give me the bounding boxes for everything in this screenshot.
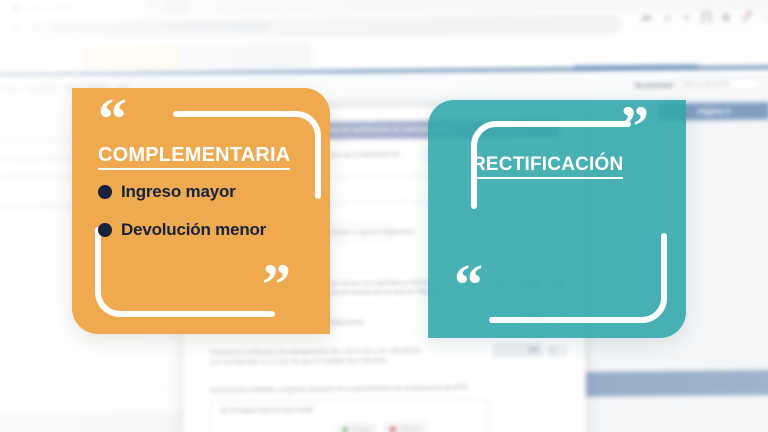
header-band-left (84, 45, 179, 71)
window-controls: − □ × (731, 0, 768, 1)
favorites-star-icon[interactable]: ☆ (663, 14, 671, 23)
tab-title: Agencia Tributaria (24, 5, 74, 12)
tab-actions-area (166, 0, 189, 14)
header-band-left-2 (179, 43, 312, 69)
forward-icon[interactable] (11, 22, 20, 31)
list-item: Ingreso mayor (98, 182, 266, 202)
bracket-bottom-right (486, 236, 672, 328)
browser-tab[interactable]: Agencia Tributaria × (7, 0, 144, 17)
read-aloud-icon[interactable]: Aᵃ (642, 14, 652, 23)
bullet-label: Ingreso mayor (121, 182, 236, 202)
accept-button[interactable]: Aceptar (337, 424, 376, 432)
modal-row-toggle[interactable] (547, 345, 567, 357)
window-minimize-icon[interactable]: − (731, 0, 736, 1)
card-title-rectificacion: RECTIFICACIÓN (472, 154, 623, 179)
list-item: Devolución menor (98, 220, 266, 240)
accept-button-label: Aceptar (351, 426, 371, 432)
cancel-icon (390, 426, 396, 432)
cancel-button-label: Cancelar (399, 426, 422, 432)
browser-nav-buttons (0, 22, 41, 32)
modal-text-line: Resultado a ingresar declaración (323, 229, 414, 239)
page-tab-label: Página 3 (698, 107, 730, 117)
quote-open-icon: “ (98, 90, 127, 148)
screenshot-root: Agencia Tributaria × + − □ × (0, 0, 768, 432)
modal-row-text: que corresponden en el caso de que el re… (210, 357, 387, 368)
modal-button-row: Aceptar Cancelar (337, 423, 427, 432)
modalidad-select[interactable]: DECLARANTE ▾ (678, 77, 768, 90)
modal-textarea-placeholder: No consignar nada en esta casilla (220, 407, 313, 417)
browser-toolbar-icons: Aᵃ ☆ ✧ ⎡⎤ ⧉ ☺ ⋯ (642, 13, 768, 24)
tab-favicon (13, 5, 20, 12)
cancel-button[interactable]: Cancelar (384, 423, 427, 432)
breadcrumb-item[interactable] (0, 85, 18, 91)
bullet-label: Devolución menor (121, 220, 266, 240)
profile-notification-dot (748, 12, 751, 15)
card-title-complementaria: COMPLEMENTARIA (98, 144, 290, 170)
profile-icon[interactable]: ☺ (741, 13, 751, 22)
new-tab-icon[interactable]: + (150, 1, 155, 10)
bullet-dot-icon (98, 185, 112, 199)
quote-open-icon: ” (620, 98, 649, 156)
card-complementaria: “ ” COMPLEMENTARIA Ingreso mayor Devoluc… (72, 88, 330, 334)
chevron-down-icon: ▾ (761, 80, 764, 87)
modal-row-field[interactable]: 109 (493, 344, 542, 356)
modalidad-control: Modalidad DECLARANTE ▾ (635, 77, 768, 91)
quote-close-icon: “ (454, 256, 483, 314)
split-screen-icon[interactable]: ⧉ (723, 13, 730, 22)
window-maximize-icon[interactable]: □ (749, 0, 754, 1)
card-rectificacion: ” “ RECTIFICACIÓN (428, 100, 686, 338)
tab-close-icon[interactable]: × (134, 4, 138, 10)
modalidad-label: Modalidad (635, 80, 673, 90)
collections-icon[interactable]: ✧ (683, 14, 691, 23)
card-bullet-list: Ingreso mayor Devolución menor (98, 182, 266, 258)
browser-essentials-icon[interactable]: ⎡⎤ (702, 14, 711, 23)
bullet-dot-icon (98, 223, 112, 237)
breadcrumb-item[interactable] (25, 85, 56, 92)
modal-row-text: Devoluciones indebidas o ingresos indebi… (210, 384, 468, 395)
modalidad-value: DECLARANTE (683, 80, 730, 88)
quote-close-icon: ” (262, 256, 291, 314)
settings-more-icon[interactable]: ⋯ (761, 13, 768, 22)
accept-icon (342, 426, 348, 432)
